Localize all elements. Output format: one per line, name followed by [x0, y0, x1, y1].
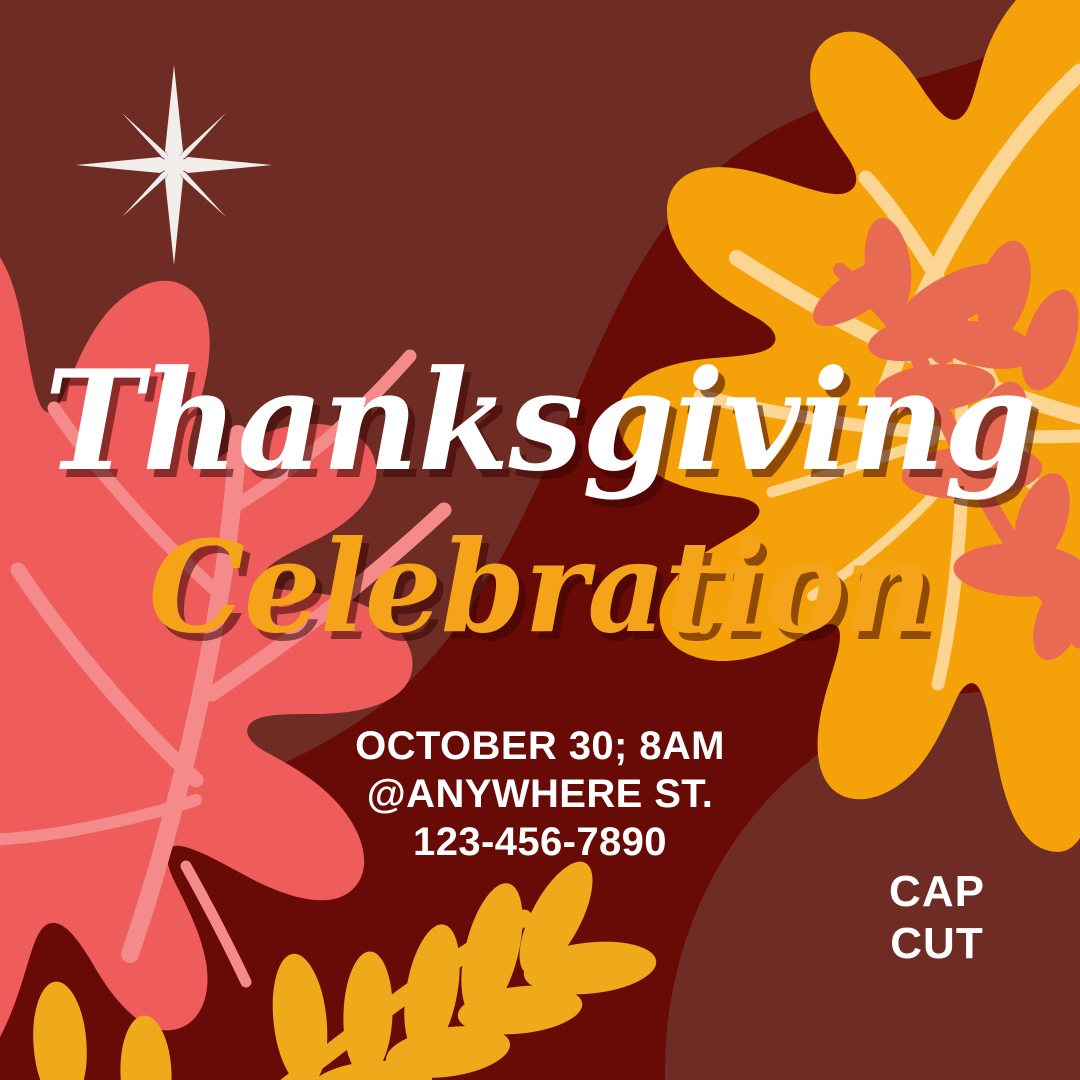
event-details: OCTOBER 30; 8AM @ANYWHERE ST. 123-456-78…: [0, 722, 1080, 866]
page-title-secondary: Celebration: [22, 524, 1059, 650]
thanksgiving-poster: Thanksgiving Celebration OCTOBER 30; 8AM…: [0, 0, 1080, 1080]
event-datetime-line: OCTOBER 30; 8AM: [0, 722, 1080, 770]
capcut-watermark-line2: CUT: [862, 918, 1012, 970]
page-title-primary: Thanksgiving: [22, 352, 1059, 490]
capcut-watermark-line1: CAP: [862, 866, 1012, 918]
capcut-watermark: CAP CUT: [862, 866, 1012, 970]
event-phone-line: 123-456-7890: [0, 818, 1080, 866]
event-location-line: @ANYWHERE ST.: [0, 770, 1080, 818]
